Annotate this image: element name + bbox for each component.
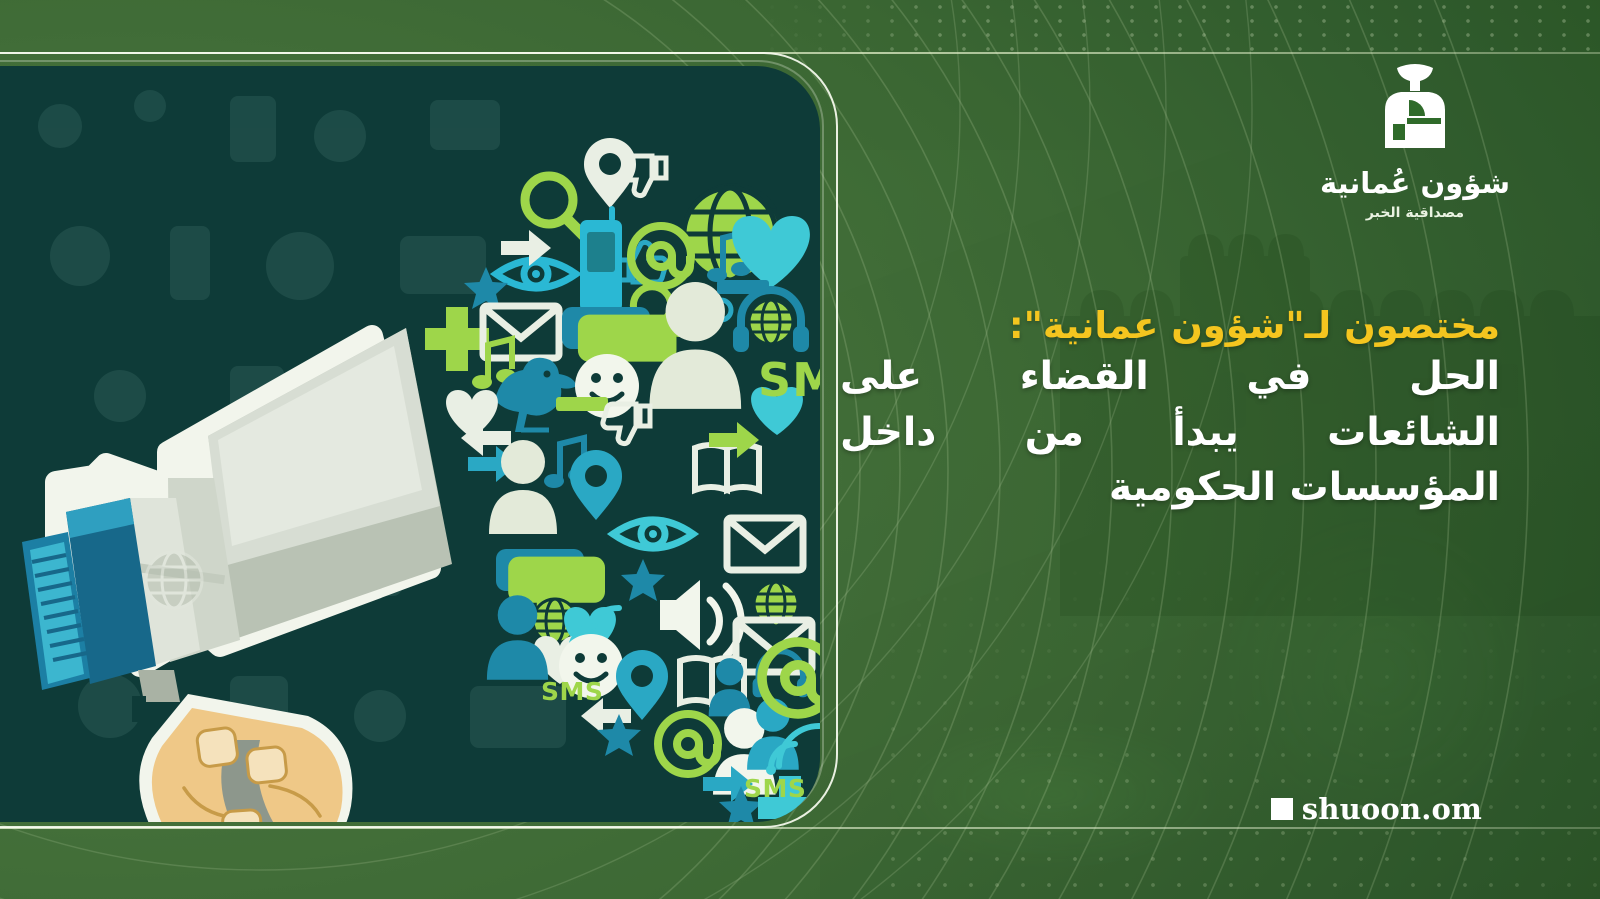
headline-word: من xyxy=(1025,405,1084,460)
megaphone-in-hand-icon xyxy=(0,266,530,822)
headline-word: يبدأ xyxy=(1172,405,1238,460)
headline-word: الحل xyxy=(1409,349,1500,404)
news-card: SMS SMS SMS xyxy=(0,0,1600,899)
headline-block: مختصون لـ"شؤون عمانية": الحل في القضاء ع… xyxy=(840,302,1500,515)
brand-logo[interactable]: شؤون عُمانية مصداقية الخبر xyxy=(1290,56,1540,221)
square-bullet-icon xyxy=(1271,798,1293,820)
top-rule xyxy=(0,52,1600,54)
logo-tagline: مصداقية الخبر xyxy=(1290,205,1540,221)
headline-kicker: مختصون لـ"شؤون عمانية": xyxy=(840,302,1500,349)
headline-word: داخل xyxy=(840,405,936,460)
mabkhara-incense-burner-icon xyxy=(1363,56,1467,160)
headline-line-3: المؤسسات الحكومية xyxy=(840,460,1500,515)
svg-text:SMS: SMS xyxy=(744,774,806,803)
headline-word: القضاء xyxy=(1020,349,1149,404)
bottom-rule xyxy=(0,827,1600,829)
headline-line-2: الشائعات يبدأ من داخل xyxy=(840,405,1500,460)
headline-word: الشائعات xyxy=(1327,405,1500,460)
site-url-label: shuoon.om xyxy=(1302,792,1482,826)
svg-text:SMS: SMS xyxy=(541,677,603,706)
logo-name: شؤون عُمانية xyxy=(1290,168,1540,200)
svg-text:SMS: SMS xyxy=(758,353,820,407)
headline-word: في xyxy=(1246,349,1311,404)
illustration-panel: SMS SMS SMS xyxy=(0,66,820,822)
headline-word: على xyxy=(840,349,922,404)
site-url[interactable]: shuoon.om xyxy=(1271,792,1482,826)
headline-line-1: الحل في القضاء على xyxy=(840,349,1500,404)
